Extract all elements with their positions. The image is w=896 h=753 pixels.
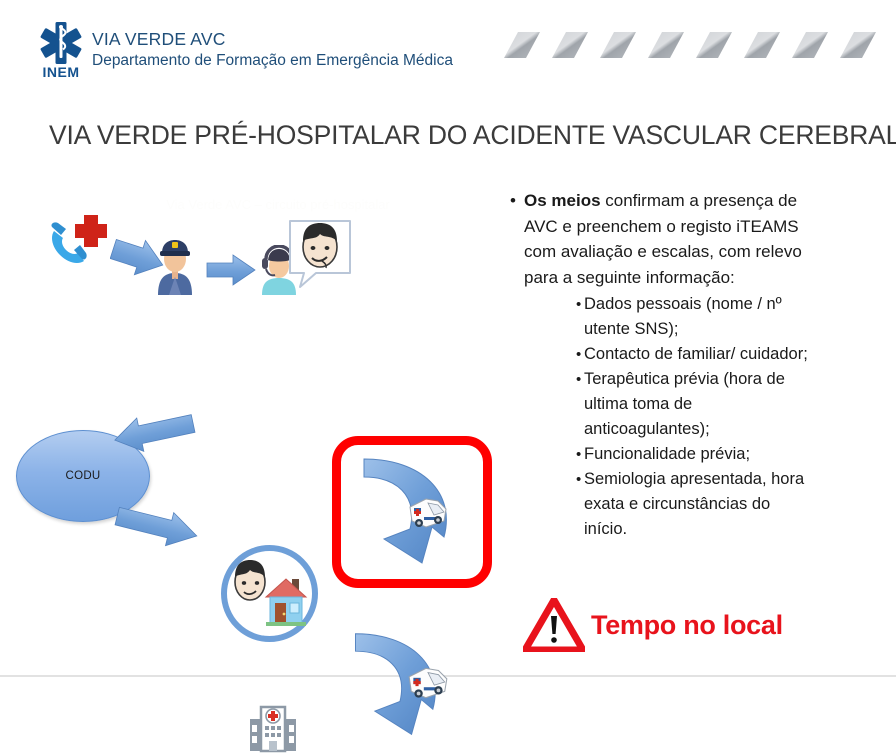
brand-title: VIA VERDE AVC [92, 28, 453, 50]
stroke-face-bubble-icon [286, 217, 354, 291]
list-item: • Funcionalidade prévia; [498, 442, 890, 467]
warning-triangle-icon [523, 598, 585, 652]
brand-subtitle: Departamento de Formação em Emergência M… [92, 50, 453, 72]
codu-label: CODU [65, 470, 100, 482]
arrow-from-codu-icon [112, 505, 204, 553]
star-of-life-icon [35, 21, 87, 65]
main-bullet-emphasis: Os meios [524, 191, 601, 210]
arrow-to-codu-icon [110, 413, 196, 457]
list-item: • Terapêutica prévia (hora de ultima tom… [498, 367, 890, 442]
sub-bullet-text: Contacto de familiar/ cuidador; [584, 342, 814, 367]
emergency-call-icon [44, 213, 110, 273]
diagram-faint-caption: Via Verde AVC – circuito pré-hospitalar [118, 197, 438, 212]
bullet-marker: • [498, 442, 584, 467]
warning-label: Tempo no local [591, 610, 783, 641]
sub-bullet-list: • Dados pessoais (nome / nº utente SNS);… [498, 292, 890, 542]
arrow-right-2-icon [205, 253, 257, 287]
bullet-marker: • [498, 467, 584, 492]
ambulance-transport-icon [405, 662, 451, 702]
bullet-marker: • [498, 342, 584, 367]
slide-title: VIA VERDE PRÉ-HOSPITALAR DO ACIDENTE VAS… [49, 120, 896, 151]
brand-block: VIA VERDE AVC Departamento de Formação e… [92, 28, 453, 72]
sub-bullet-text: Semiologia apresentada, hora exata e cir… [584, 467, 814, 542]
sub-bullet-text: Dados pessoais (nome / nº utente SNS); [584, 292, 814, 342]
house-icon [262, 575, 310, 627]
bullet-marker: • [498, 188, 524, 214]
sub-bullet-text: Terapêutica prévia (hora de ultima toma … [584, 367, 814, 442]
bullet-marker: • [498, 292, 584, 317]
list-item: • Contacto de familiar/ cuidador; [498, 342, 890, 367]
inem-logo-text: INEM [33, 64, 89, 80]
page-header: INEM VIA VERDE AVC Departamento de Forma… [0, 0, 896, 96]
list-item: • Semiologia apresentada, hora exata e c… [498, 467, 890, 542]
workflow-diagram: Via Verde AVC – circuito pré-hospitalar [0, 175, 500, 605]
main-bullet-text: Os meios confirmam a presença de AVC e p… [524, 188, 814, 290]
inem-logo: INEM [33, 21, 89, 79]
main-bullet-item: • Os meios confirmam a presença de AVC e… [498, 188, 890, 290]
police-officer-icon [152, 233, 198, 295]
header-stripe-decoration [492, 28, 884, 64]
hospital-icon [248, 703, 298, 753]
sub-bullet-text: Funcionalidade prévia; [584, 442, 814, 467]
content-bullet-list: • Os meios confirmam a presença de AVC e… [498, 188, 890, 542]
time-on-scene-warning: Tempo no local [523, 598, 783, 652]
ambulance-icon [406, 493, 450, 531]
list-item: • Dados pessoais (nome / nº utente SNS); [498, 292, 890, 342]
bullet-marker: • [498, 367, 584, 392]
